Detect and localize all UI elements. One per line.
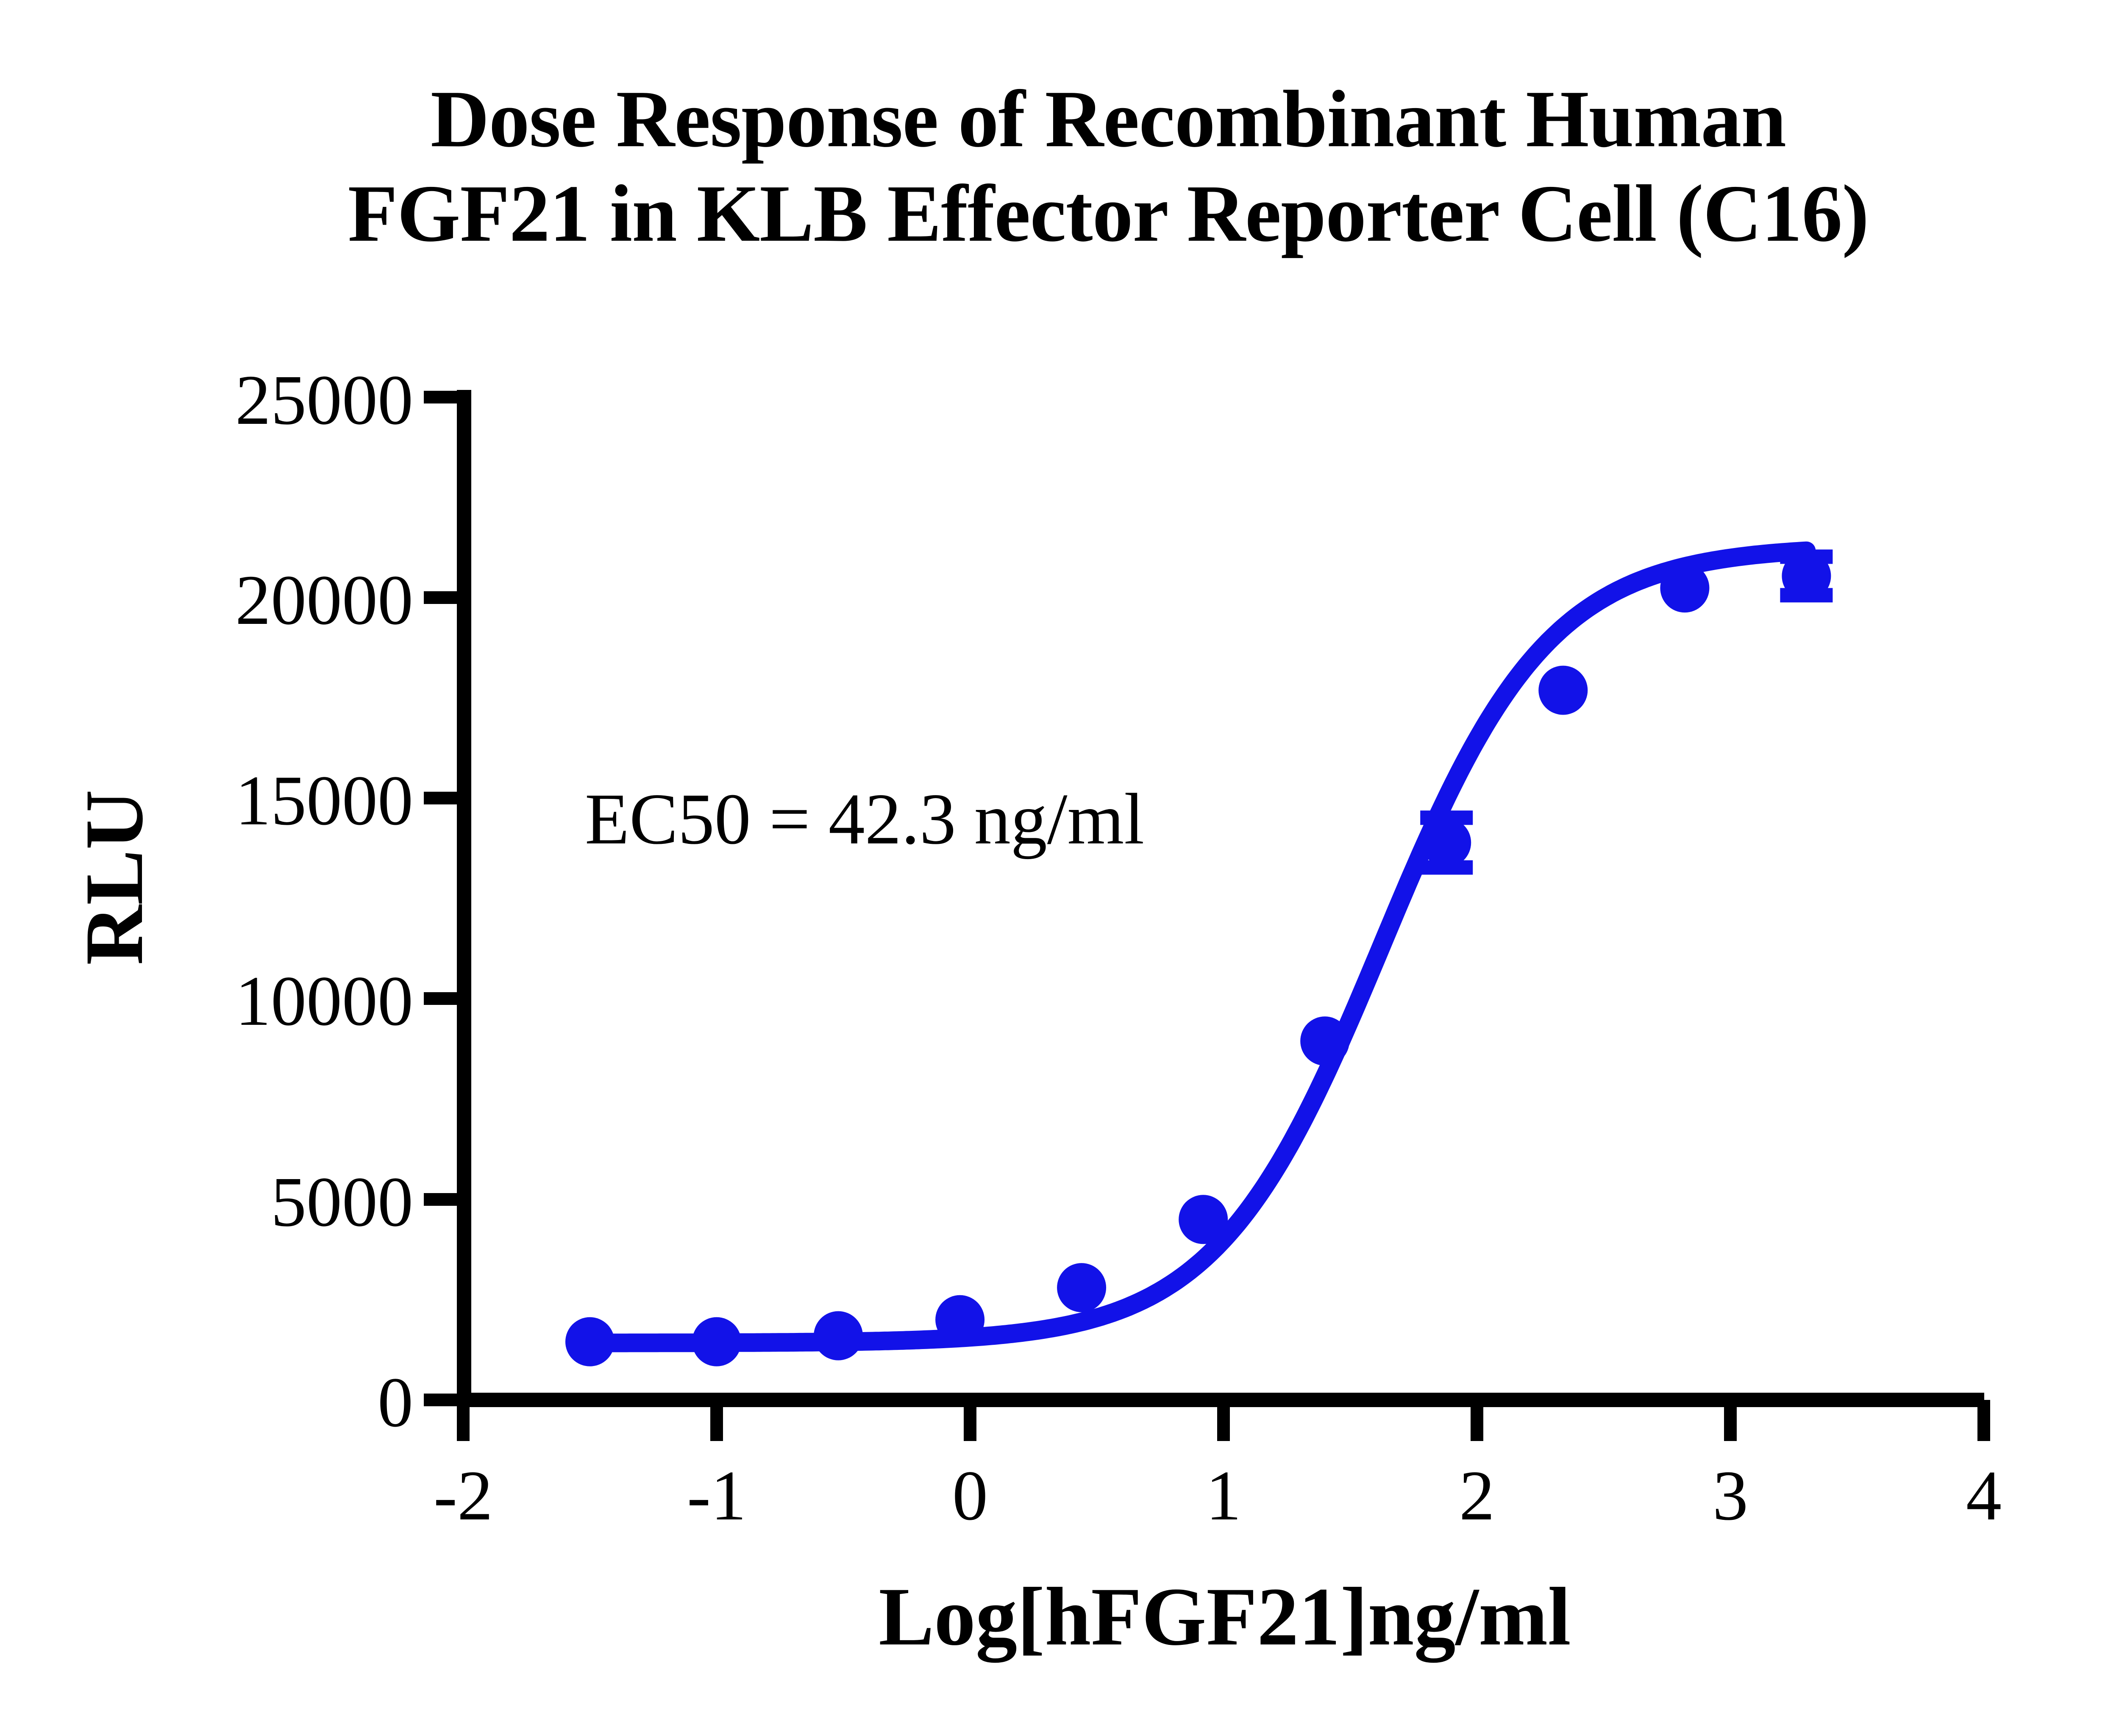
x-tick-label-1: 1 <box>1206 1456 1241 1535</box>
x-tick-label-0: 0 <box>952 1456 988 1535</box>
data-series-layer <box>565 551 1833 1366</box>
data-point-marker <box>1782 551 1831 601</box>
x-tick-label-2: 2 <box>1459 1456 1495 1535</box>
data-point-marker <box>692 1317 741 1366</box>
data-point-marker <box>1538 666 1588 715</box>
x-tick-label--2: -2 <box>434 1456 493 1535</box>
data-point-marker <box>814 1311 863 1360</box>
data-point-marker <box>1057 1263 1106 1312</box>
x-axis-title: Log[hFGF21]ng/ml <box>879 1571 1571 1663</box>
dose-response-plot: 25000 20000 15000 10000 5000 0 -2 -1 0 1… <box>0 0 2119 1736</box>
y-tick-label-25000: 25000 <box>235 361 413 440</box>
data-point-marker <box>565 1317 615 1366</box>
y-axis-title: RLU <box>68 790 160 965</box>
y-tick-label-0: 0 <box>378 1363 413 1442</box>
y-tick-label-10000: 10000 <box>235 962 413 1040</box>
y-tick-label-5000: 5000 <box>271 1163 413 1241</box>
data-point-marker <box>1179 1195 1228 1244</box>
y-tick-label-15000: 15000 <box>235 761 413 840</box>
x-tick-label-3: 3 <box>1713 1456 1748 1535</box>
ec50-annotation: EC50 = 42.3 ng/ml <box>585 779 1144 860</box>
x-tick-label--1: -1 <box>687 1456 746 1535</box>
x-tick-label-4: 4 <box>1966 1456 2002 1535</box>
data-point-marker <box>1422 818 1471 867</box>
data-point-marker <box>1300 1016 1349 1066</box>
data-point-marker <box>935 1295 984 1344</box>
y-tick-label-20000: 20000 <box>235 561 413 640</box>
data-point-marker <box>1660 563 1709 612</box>
figure-root: Dose Response of Recombinant Human FGF21… <box>0 0 2119 1736</box>
